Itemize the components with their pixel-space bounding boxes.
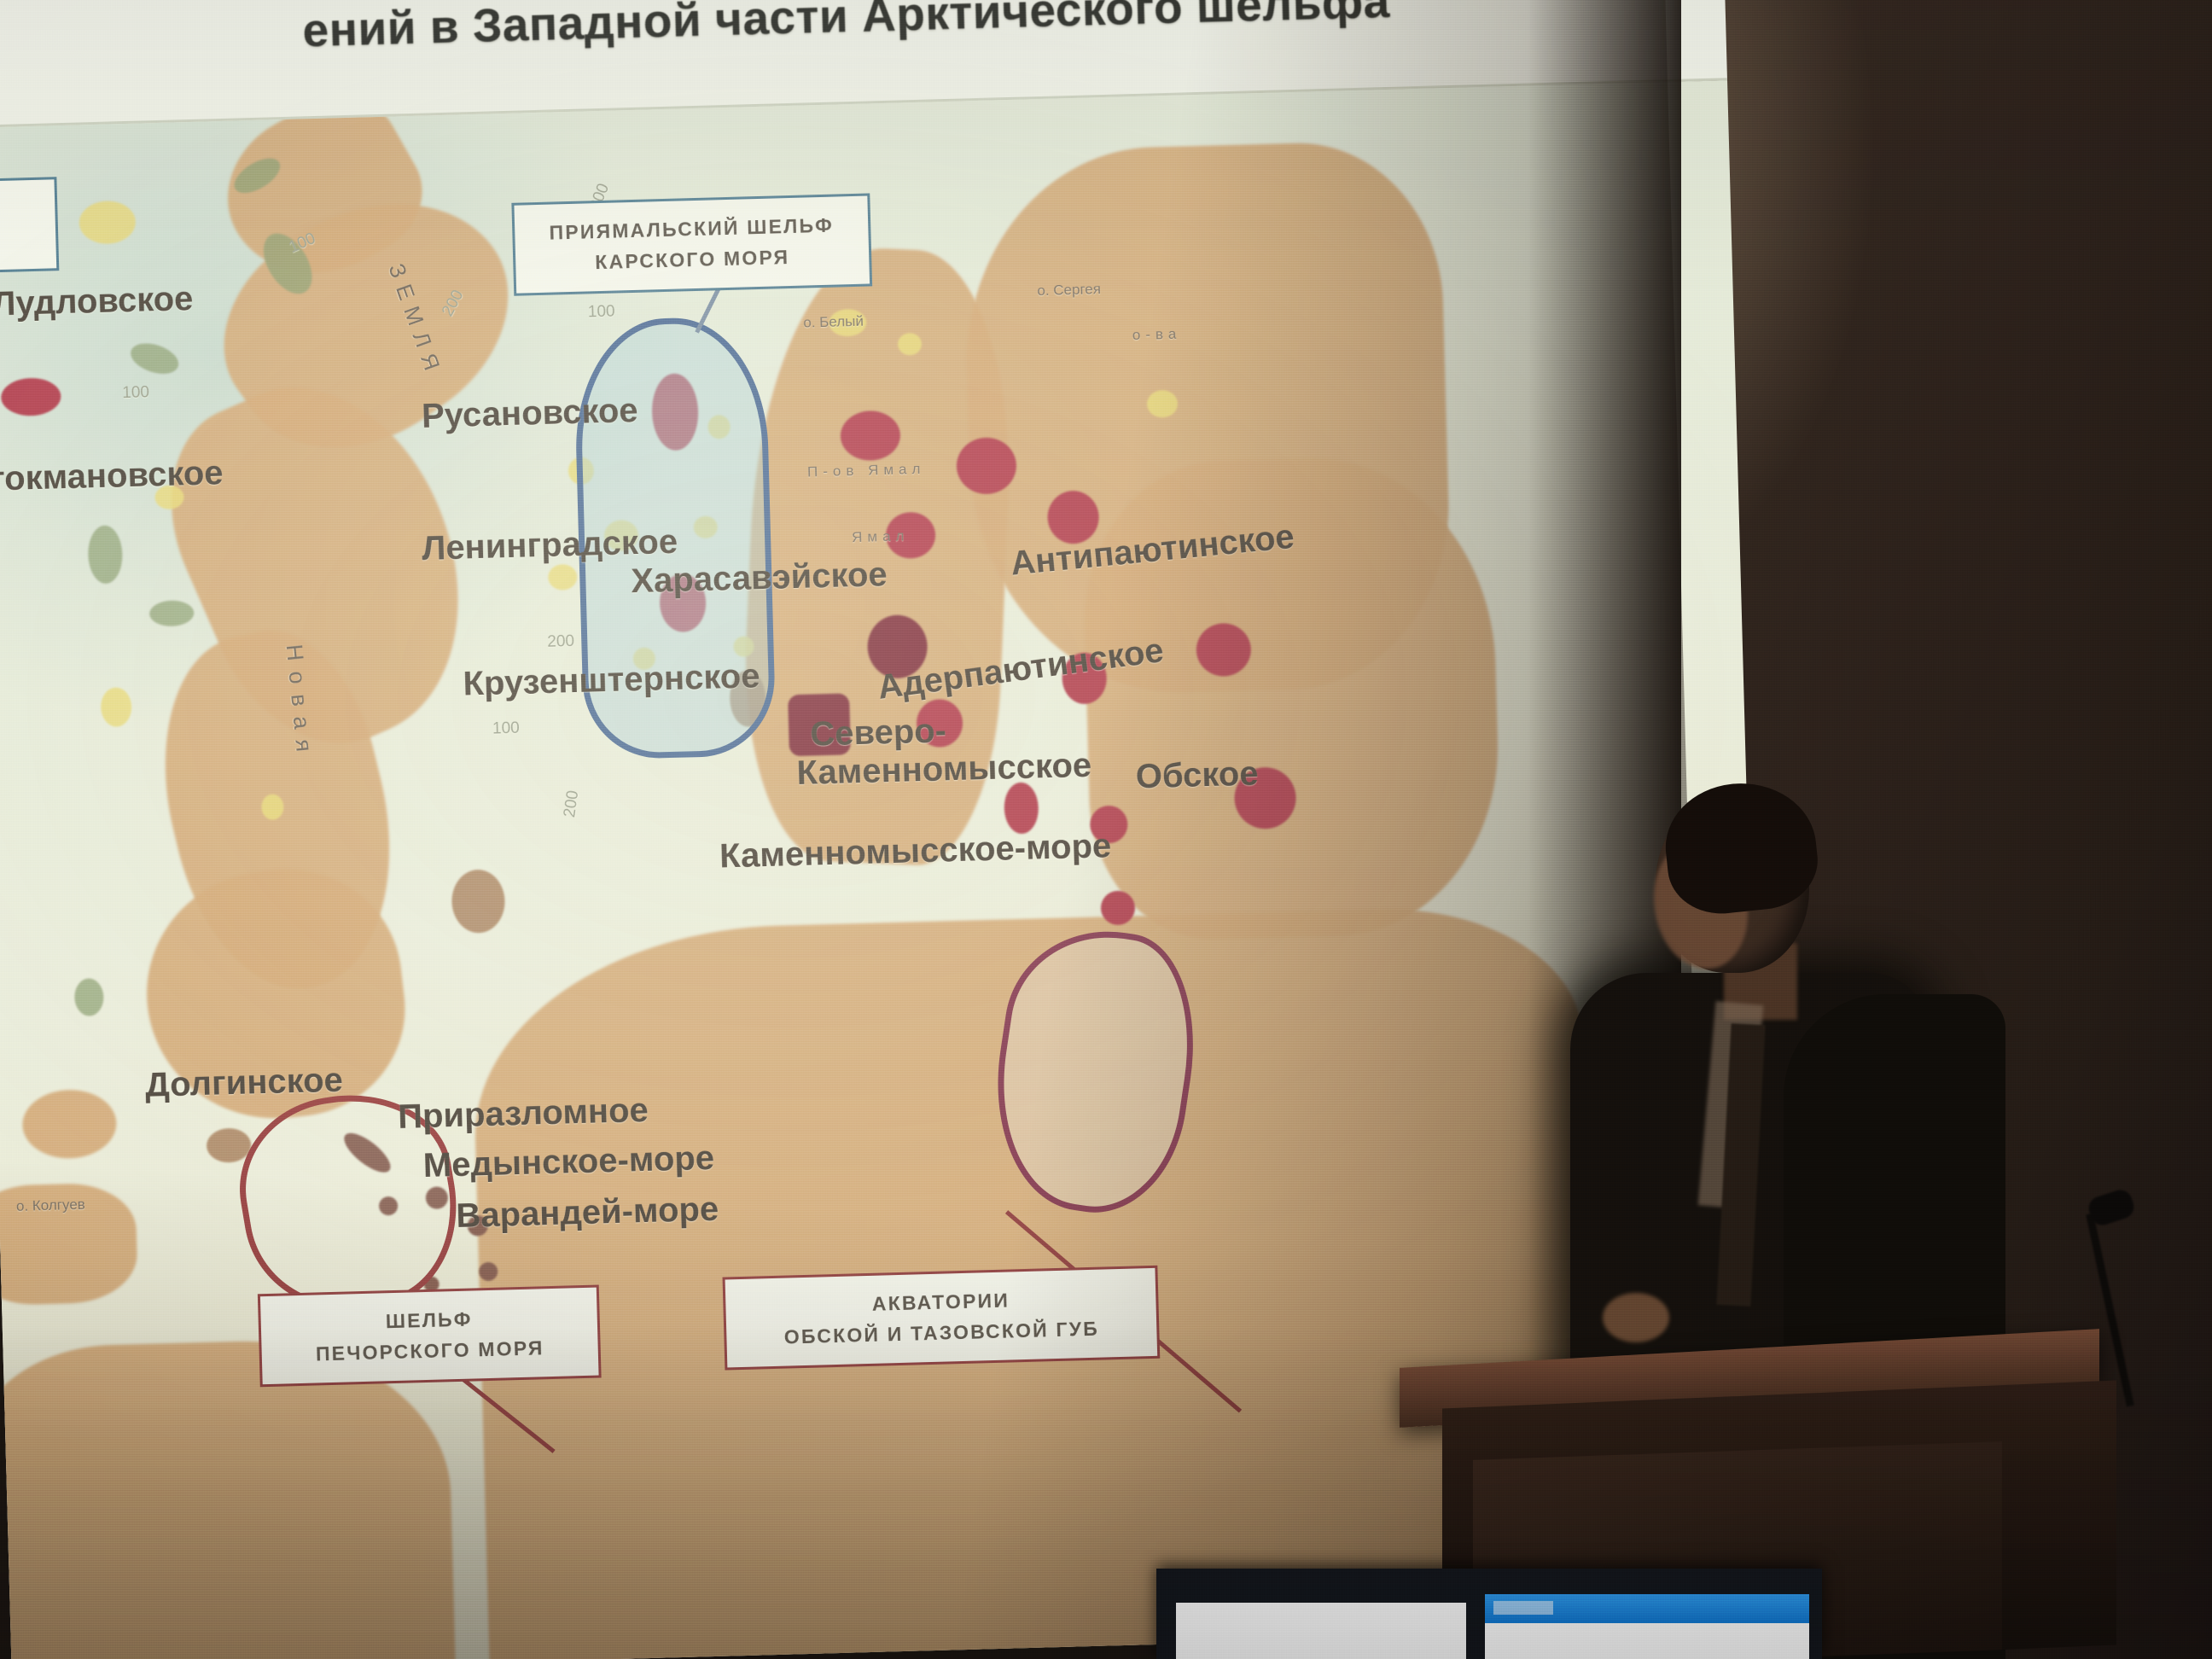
presentation-photo-scene: ений в Западной части Арктического шельф… (0, 0, 2212, 1659)
land-kolguev (21, 1089, 117, 1160)
isobath-label: 100 (492, 719, 520, 739)
geo-label-pov-yamal: П-ов Ямал (807, 461, 926, 481)
field-label-kamennomysskoye: Каменномысское (796, 747, 1092, 793)
field-label-rusanovskoye: Русановское (421, 392, 638, 436)
geo-label-yamal: Ямал (852, 527, 910, 546)
titlebar-controls[interactable] (1493, 1601, 1553, 1615)
island-blob (74, 978, 104, 1016)
field-label-leningradskoye: Ленинградское (422, 523, 678, 568)
geo-label-kolguev: о. Колгуев (16, 1196, 85, 1215)
field-label-ludlovskoye: Лудловское (0, 280, 194, 323)
field-label-prirazlomnoye: Приразломное (398, 1091, 649, 1137)
legend-box-cutoff (0, 177, 59, 276)
geo-label-ostrov-sergeya: о. Сергея (1037, 281, 1101, 300)
isobath-label: 100 (122, 383, 149, 403)
laptop-window-titlebar[interactable] (1485, 1594, 1809, 1623)
field-label-varandey-more: Варандей-море (456, 1190, 719, 1236)
callout-ob-taz-bays: АКВАТОРИИ ОБСКОЙ И ТАЗОВСКОЙ ГУБ (723, 1266, 1161, 1371)
field-label-dolginskoye: Долгинское (145, 1062, 344, 1105)
field-label-severo: Северо- (810, 712, 947, 754)
field-label-medynskoye-more: Медынское-море (422, 1139, 714, 1185)
isobath-label: 100 (588, 303, 615, 323)
laptop-window-content[interactable] (1485, 1623, 1809, 1659)
callout-pechora-shelf: ШЕЛЬФ ПЕЧОРСКОГО МОРЯ (258, 1284, 602, 1387)
field-label-kharasaveyskoye: Харасавэйское (631, 556, 888, 601)
field-label-kruzenshternskoye: Крузенштернское (463, 657, 760, 703)
field-blob-red (1004, 782, 1039, 834)
presenter-hand (1603, 1293, 1669, 1342)
field-label-obskoye: Обское (1135, 754, 1259, 796)
isobath-label: 200 (547, 632, 574, 652)
field-label-shtokmanovskoye: Штокмановское (0, 454, 224, 500)
geo-label-ostrova: о-ва (1132, 326, 1182, 345)
laptop-screen-left[interactable] (1176, 1603, 1466, 1659)
geo-label-ostrov-belyy: о. Белый (803, 313, 864, 332)
isobath-label: 200 (561, 789, 583, 819)
callout-kara-shelf: ПРИЯМАЛЬСКИЙ ШЕЛЬФ КАРСКОГО МОРЯ (511, 193, 872, 296)
land-southwest-coast (0, 1336, 457, 1659)
